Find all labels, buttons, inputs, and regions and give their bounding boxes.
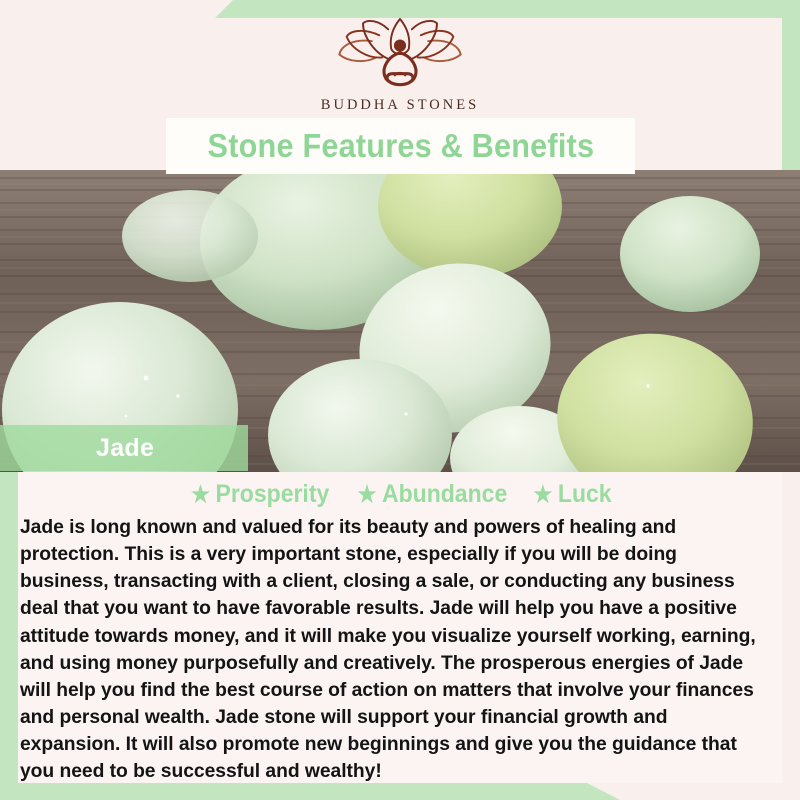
star-icon: ★ [533, 483, 552, 506]
page-title: Stone Features & Benefits [207, 127, 594, 165]
section-title-banner: Stone Features & Benefits [166, 118, 635, 174]
decorative-bar-left-lower [0, 498, 18, 783]
brand-logo: BUDDHA STONES [0, 16, 800, 114]
keyword-list: ★ Prosperity ★ Abundance ★ Luck [18, 476, 782, 512]
star-icon: ★ [191, 483, 210, 506]
brand-name: BUDDHA STONES [321, 97, 479, 114]
stone-description: Jade is long known and valued for its be… [20, 514, 769, 785]
stone-name-banner: Jade [0, 425, 248, 471]
stone-name-label: Jade [96, 434, 154, 463]
star-icon: ★ [358, 483, 377, 506]
keyword-label: Abundance [382, 480, 507, 509]
keyword-label: Luck [558, 480, 612, 509]
keyword-luck: ★ Luck [533, 480, 611, 509]
lotus-meditation-figure-icon [326, 16, 474, 90]
keyword-label: Prosperity [215, 480, 329, 509]
content-panel: ★ Prosperity ★ Abundance ★ Luck Jade is … [18, 472, 782, 783]
keyword-abundance: ★ Abundance [358, 480, 508, 509]
keyword-prosperity: ★ Prosperity [191, 480, 329, 509]
product-info-card: BUDDHA STONES [0, 0, 800, 800]
